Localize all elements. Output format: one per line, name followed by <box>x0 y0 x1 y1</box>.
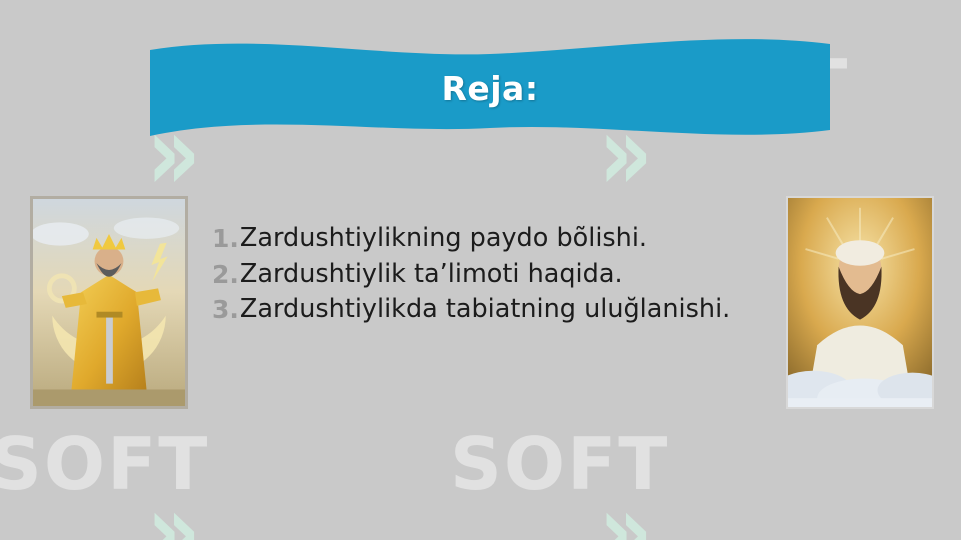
list-item-label: Zardushtiylikning paydo bõlishi. <box>240 222 812 256</box>
watermark-text: SOFT <box>0 422 209 506</box>
watermark-text: SOFT <box>450 422 669 506</box>
page-title: Reja: <box>150 36 830 140</box>
slide-canvas: SOFT SOFT SOFT SOFT » » » » Reja: <box>0 0 961 540</box>
list-item-label: Zardushtiylikda tabiatning uluğlanishi. <box>240 293 812 327</box>
list-item-number: 2. <box>212 258 240 291</box>
zoroastrian-king-illustration <box>30 196 188 409</box>
list-item-number: 3. <box>212 293 240 326</box>
list-item: 1. Zardushtiylikning paydo bõlishi. <box>212 222 812 256</box>
agenda-list: 1. Zardushtiylikning paydo bõlishi. 2. Z… <box>212 222 812 329</box>
watermark-logo-icon: » <box>599 470 653 540</box>
list-item: 3. Zardushtiylikda tabiatning uluğlanish… <box>212 293 812 327</box>
list-item: 2. Zardushtiylik ta’limoti haqida. <box>212 258 812 292</box>
list-item-number: 1. <box>212 222 240 255</box>
watermark-logo-icon: » <box>147 470 201 540</box>
list-item-label: Zardushtiylik ta’limoti haqida. <box>240 258 812 292</box>
title-banner: Reja: <box>150 36 830 146</box>
